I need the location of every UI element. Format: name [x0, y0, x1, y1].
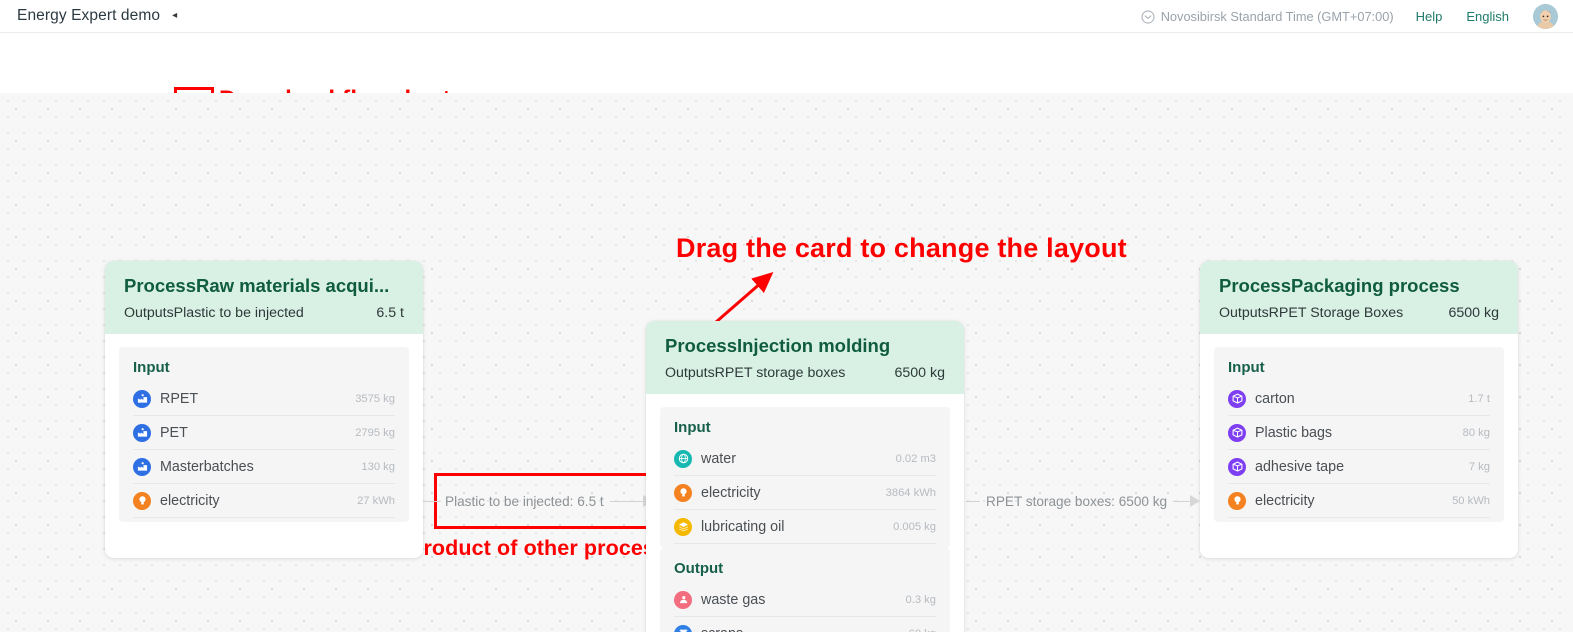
connector-label: Plastic to be injected: 6.5 t: [439, 494, 610, 509]
section-title: Input: [1228, 359, 1490, 376]
collapse-sidebar-caret[interactable]: ◂: [172, 11, 177, 21]
package-icon: [1228, 390, 1246, 408]
io-item-value: 60 kg: [909, 628, 936, 632]
section-title: Output: [674, 560, 936, 577]
io-item-name: lubricating oil: [701, 519, 885, 535]
waste-gas-icon: [674, 591, 692, 609]
app-title: Energy Expert demo: [17, 7, 160, 25]
language-switch[interactable]: English: [1466, 9, 1509, 24]
card-title: ProcessRaw materials acqui...: [124, 275, 404, 297]
toolbar: Download flowchart: [0, 33, 1573, 93]
energy-icon: [674, 484, 692, 502]
material-icon: [133, 424, 151, 442]
io-item-value: 1.7 t: [1468, 393, 1490, 405]
section-title: Input: [674, 419, 936, 436]
io-item-name: carton: [1255, 391, 1460, 407]
card-body: InputRPET3575 kgPET2795 kgMasterbatches1…: [105, 334, 423, 558]
io-item-value: 0.3 kg: [906, 594, 936, 606]
card-header: ProcessRaw materials acqui... OutputsPla…: [105, 261, 423, 334]
io-section: InputRPET3575 kgPET2795 kgMasterbatches1…: [119, 347, 409, 522]
package-icon: [1228, 458, 1246, 476]
card-body: Inputwater0.02 m3electricity3864 kWhlubr…: [646, 394, 964, 632]
package-icon: [1228, 424, 1246, 442]
io-section: Inputwater0.02 m3electricity3864 kWhlubr…: [660, 407, 950, 548]
io-item-name: PET: [160, 425, 347, 441]
io-item-name: electricity: [1255, 493, 1444, 509]
card-output-label: OutputsPlastic to be injected: [124, 305, 304, 321]
flowchart-canvas[interactable]: Drag the card to change the layout Produ…: [0, 93, 1573, 632]
card-body: Inputcarton1.7 tPlastic bags80 kgadhesiv…: [1200, 334, 1518, 558]
io-item-row[interactable]: electricity50 kWh: [1228, 484, 1490, 518]
card-output-label: OutputsRPET Storage Boxes: [1219, 305, 1403, 321]
io-item-row[interactable]: electricity27 kWh: [133, 484, 395, 518]
scraps-icon: [674, 625, 692, 632]
connector-arrow-icon: [1190, 495, 1200, 507]
top-bar-right: Novosibirsk Standard Time (GMT+07:00) He…: [1141, 0, 1565, 33]
io-item-name: waste gas: [701, 592, 898, 608]
energy-icon: [133, 492, 151, 510]
io-item-value: 130 kg: [361, 461, 395, 473]
process-card-raw-materials[interactable]: ProcessRaw materials acqui... OutputsPla…: [105, 261, 423, 558]
io-item-row[interactable]: waste gas0.3 kg: [674, 583, 936, 617]
io-item-row[interactable]: carton1.7 t: [1228, 382, 1490, 416]
card-title: ProcessPackaging process: [1219, 275, 1499, 297]
process-card-injection-molding[interactable]: ProcessInjection molding OutputsRPET sto…: [646, 321, 964, 632]
io-item-value: 80 kg: [1463, 427, 1490, 439]
io-item-row[interactable]: electricity3864 kWh: [674, 476, 936, 510]
io-item-name: water: [701, 451, 888, 467]
card-output-label: OutputsRPET storage boxes: [665, 365, 845, 381]
card-output-summary: OutputsRPET storage boxes 6500 kg: [665, 365, 945, 381]
io-item-value: 0.005 kg: [893, 521, 936, 533]
connector-rpet-storage-boxes: RPET storage boxes: 6500 kg: [966, 489, 1200, 513]
material-icon: [133, 390, 151, 408]
io-item-value: 0.02 m3: [896, 453, 936, 465]
io-section: Outputwaste gas0.3 kgscraps60 kg: [660, 548, 950, 632]
clock-icon: [1141, 10, 1155, 24]
io-item-value: 50 kWh: [1452, 495, 1490, 507]
timezone-label: Novosibirsk Standard Time (GMT+07:00): [1161, 9, 1394, 24]
card-header: ProcessInjection molding OutputsRPET sto…: [646, 321, 964, 394]
io-item-name: electricity: [160, 493, 349, 509]
water-icon: [674, 450, 692, 468]
timezone-display: Novosibirsk Standard Time (GMT+07:00): [1141, 9, 1394, 24]
io-item-name: electricity: [701, 485, 878, 501]
annotation-product-of-other-process: Product of other process: [409, 536, 667, 561]
energy-icon: [1228, 492, 1246, 510]
io-item-row[interactable]: lubricating oil0.005 kg: [674, 510, 936, 544]
io-item-name: scraps: [701, 626, 901, 632]
io-item-row[interactable]: PET2795 kg: [133, 416, 395, 450]
io-item-value: 7 kg: [1469, 461, 1490, 473]
io-item-value: 27 kWh: [357, 495, 395, 507]
io-item-row[interactable]: Plastic bags80 kg: [1228, 416, 1490, 450]
io-section: Inputcarton1.7 tPlastic bags80 kgadhesiv…: [1214, 347, 1504, 522]
io-item-name: adhesive tape: [1255, 459, 1461, 475]
io-item-row[interactable]: RPET3575 kg: [133, 382, 395, 416]
connector-label: RPET storage boxes: 6500 kg: [980, 494, 1173, 509]
io-item-row[interactable]: Masterbatches130 kg: [133, 450, 395, 484]
section-title: Input: [133, 359, 395, 376]
card-output-summary: OutputsRPET Storage Boxes 6500 kg: [1219, 305, 1499, 321]
card-output-value: 6500 kg: [1449, 305, 1500, 321]
io-item-row[interactable]: scraps60 kg: [674, 617, 936, 632]
io-item-name: Masterbatches: [160, 459, 353, 475]
io-item-value: 3864 kWh: [886, 487, 936, 499]
io-item-row[interactable]: adhesive tape7 kg: [1228, 450, 1490, 484]
help-link[interactable]: Help: [1416, 9, 1443, 24]
avatar[interactable]: [1533, 4, 1558, 29]
card-header: ProcessPackaging process OutputsRPET Sto…: [1200, 261, 1518, 334]
top-bar: Energy Expert demo ◂ Novosibirsk Standar…: [0, 0, 1573, 33]
io-item-name: Plastic bags: [1255, 425, 1455, 441]
card-output-value: 6.5 t: [376, 305, 404, 321]
io-item-row[interactable]: water0.02 m3: [674, 442, 936, 476]
card-output-value: 6500 kg: [895, 365, 946, 381]
connector-plastic-to-be-injected: Plastic to be injected: 6.5 t: [425, 489, 653, 513]
process-card-packaging[interactable]: ProcessPackaging process OutputsRPET Sto…: [1200, 261, 1518, 558]
material-icon: [133, 458, 151, 476]
io-item-name: RPET: [160, 391, 347, 407]
annotation-drag-card: Drag the card to change the layout: [676, 233, 1127, 264]
io-item-value: 2795 kg: [355, 427, 395, 439]
card-title: ProcessInjection molding: [665, 335, 945, 357]
io-item-value: 3575 kg: [355, 393, 395, 405]
card-output-summary: OutputsPlastic to be injected 6.5 t: [124, 305, 404, 321]
oil-icon: [674, 518, 692, 536]
